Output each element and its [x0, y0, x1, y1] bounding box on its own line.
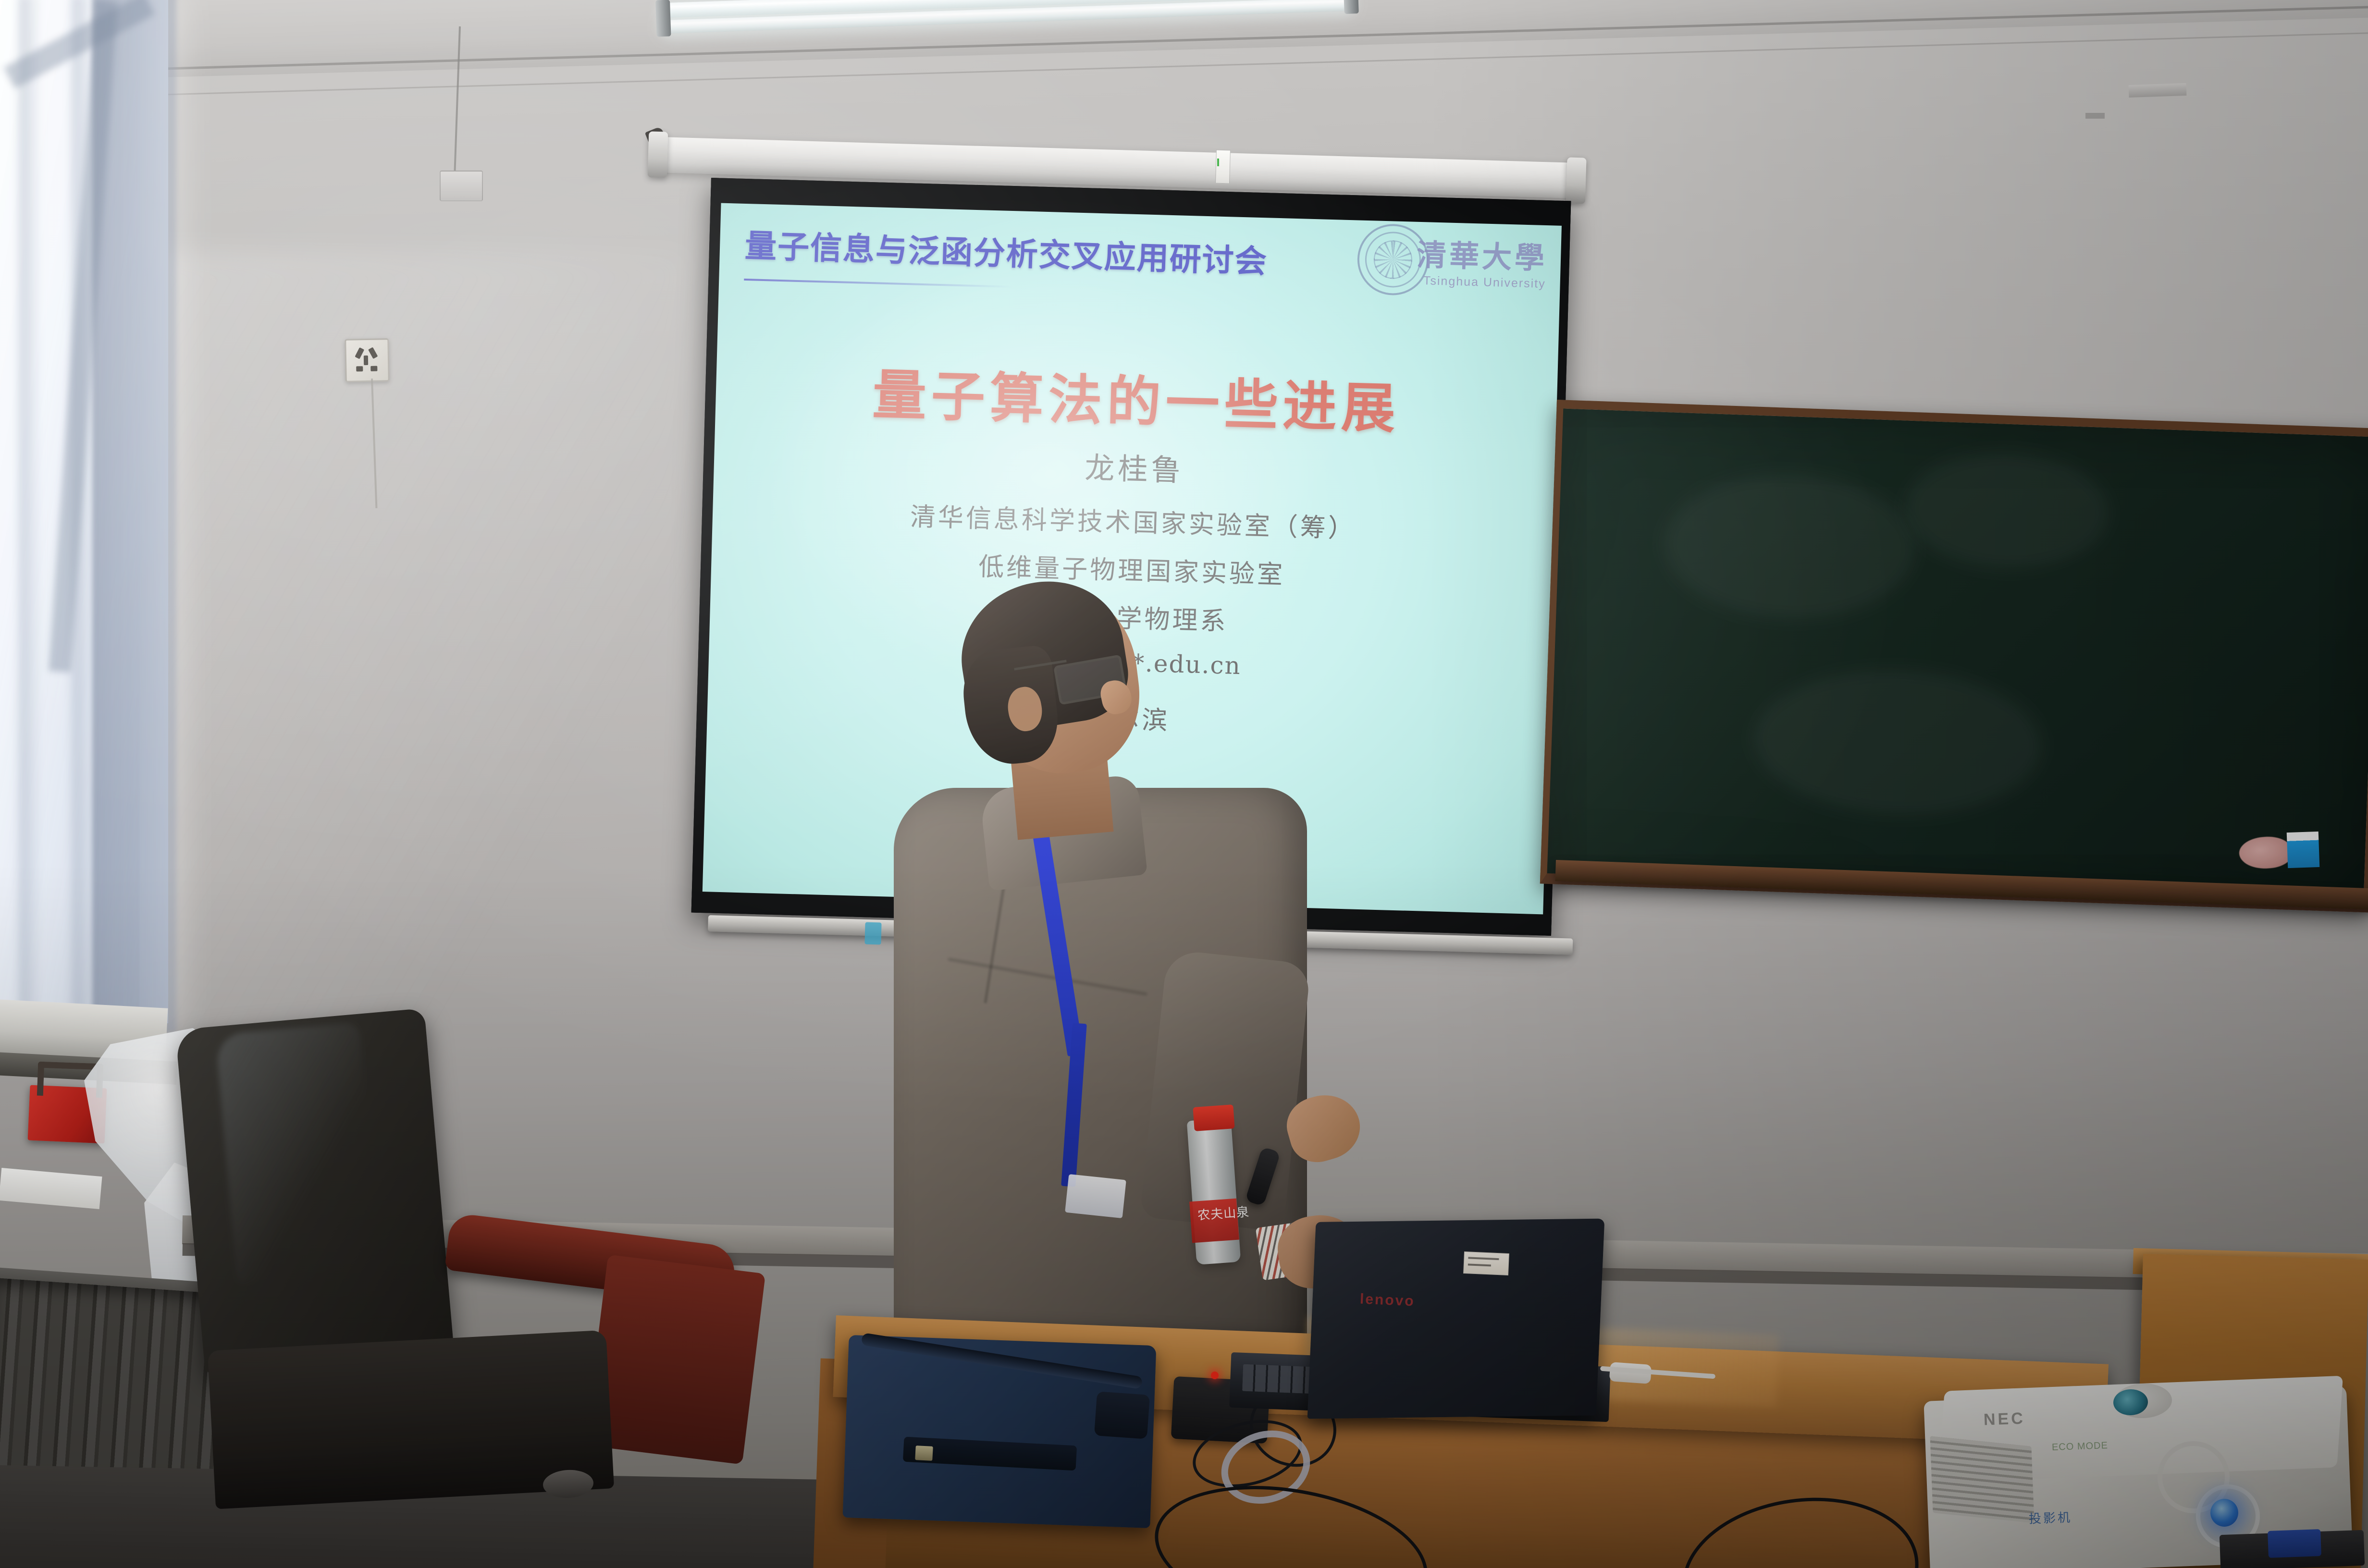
classroom-scene: 量子信息与泛函分析交叉应用研讨会 清華大學 Tsinghua Universit…: [0, 0, 2368, 1568]
scene-vignette: [0, 0, 2368, 1568]
